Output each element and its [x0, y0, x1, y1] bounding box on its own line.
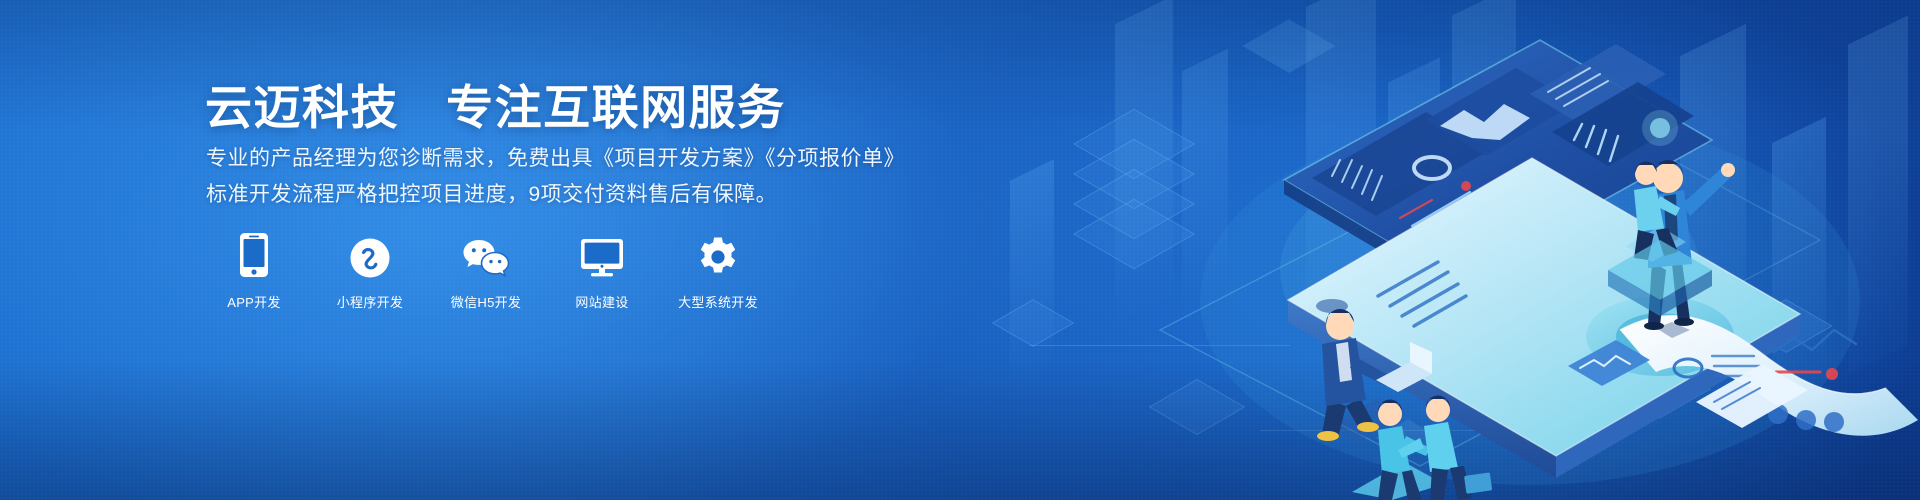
- service-label: APP开发: [227, 292, 281, 311]
- mobile-phone-icon: [239, 232, 269, 278]
- service-item-wechat-h5[interactable]: 微信H5开发: [446, 232, 526, 311]
- service-label: 微信H5开发: [451, 292, 521, 311]
- wechat-bubbles-icon: [462, 232, 510, 278]
- service-item-website[interactable]: 网站建设: [562, 232, 642, 311]
- service-item-app[interactable]: APP开发: [214, 232, 294, 311]
- service-icon-list: APP开发 小程序开发: [214, 232, 758, 311]
- service-label: 网站建设: [575, 292, 628, 311]
- service-label: 小程序开发: [337, 292, 404, 311]
- mini-program-icon: [350, 232, 390, 278]
- isometric-illustration: [1060, 0, 1920, 500]
- service-label: 大型系统开发: [678, 292, 758, 311]
- gear-icon: [697, 232, 739, 278]
- service-item-large-system[interactable]: 大型系统开发: [678, 232, 758, 311]
- page-title: 云迈科技 专注互联网服务: [205, 69, 786, 138]
- subtitle-line-2: 标准开发流程严格把控项目进度，9项交付资料售后有保障。: [206, 184, 777, 205]
- headline-tagline: 专注互联网服务: [446, 81, 786, 134]
- monitor-icon: [580, 232, 624, 278]
- subtitle-line-1: 专业的产品经理为您诊断需求，免费出具《项目开发方案》《分项报价单》: [206, 148, 905, 169]
- headline-brand: 云迈科技: [205, 81, 399, 134]
- service-item-mini-program[interactable]: 小程序开发: [330, 232, 410, 311]
- hero-content: 云迈科技 专注互联网服务 专业的产品经理为您诊断需求，免费出具《项目开发方案》《…: [200, 0, 960, 500]
- hero-banner: 云迈科技 专注互联网服务 专业的产品经理为您诊断需求，免费出具《项目开发方案》《…: [0, 0, 1920, 500]
